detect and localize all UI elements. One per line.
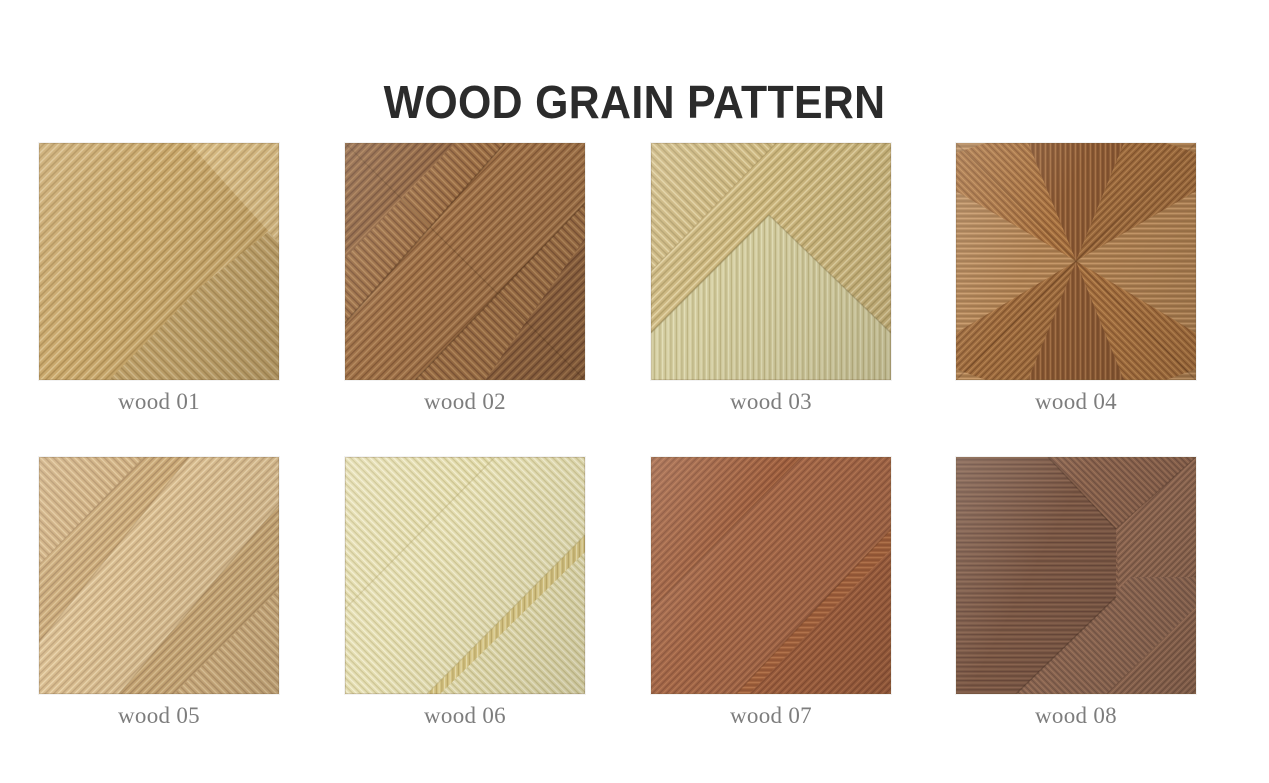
swatch-caption-wood-08: wood 08 [956,702,1196,730]
page-title: WOOD GRAIN PATTERN [44,75,1224,129]
wood-pattern-svg [39,457,279,694]
wood-swatch-image-wood-08[interactable] [956,457,1196,694]
swatch-caption-wood-07: wood 07 [651,702,891,730]
wood-swatch-image-wood-06[interactable] [345,457,585,694]
swatch-cell-wood-06[interactable]: wood 06 [345,457,585,730]
wood-swatch-image-wood-03[interactable] [651,143,891,380]
wood-swatch-image-wood-02[interactable] [345,143,585,380]
swatch-cell-wood-04[interactable]: wood 04 [956,143,1196,416]
wood-pattern-svg [956,457,1196,694]
swatch-caption-wood-03: wood 03 [651,388,891,416]
wood-pattern-svg [651,457,891,694]
wood-pattern-svg [345,143,585,380]
swatch-caption-wood-01: wood 01 [39,388,279,416]
swatch-caption-wood-04: wood 04 [956,388,1196,416]
swatch-grid: wood 01 [39,143,1199,743]
wood-pattern-svg [956,143,1196,380]
swatch-cell-wood-08[interactable]: wood 08 [956,457,1196,730]
swatch-cell-wood-05[interactable]: wood 05 [39,457,279,730]
wood-swatch-image-wood-04[interactable] [956,143,1196,380]
wood-swatch-image-wood-05[interactable] [39,457,279,694]
swatch-caption-wood-05: wood 05 [39,702,279,730]
wood-pattern-svg [345,457,585,694]
swatch-caption-wood-02: wood 02 [345,388,585,416]
swatch-cell-wood-02[interactable]: wood 02 [345,143,585,416]
wood-pattern-svg [651,143,891,380]
wood-grain-pattern-page: WOOD GRAIN PATTERN [0,0,1269,783]
wood-pattern-svg [39,143,279,380]
swatch-cell-wood-01[interactable]: wood 01 [39,143,279,416]
wood-swatch-image-wood-07[interactable] [651,457,891,694]
swatch-caption-wood-06: wood 06 [345,702,585,730]
swatch-cell-wood-07[interactable]: wood 07 [651,457,891,730]
wood-swatch-image-wood-01[interactable] [39,143,279,380]
swatch-cell-wood-03[interactable]: wood 03 [651,143,891,416]
